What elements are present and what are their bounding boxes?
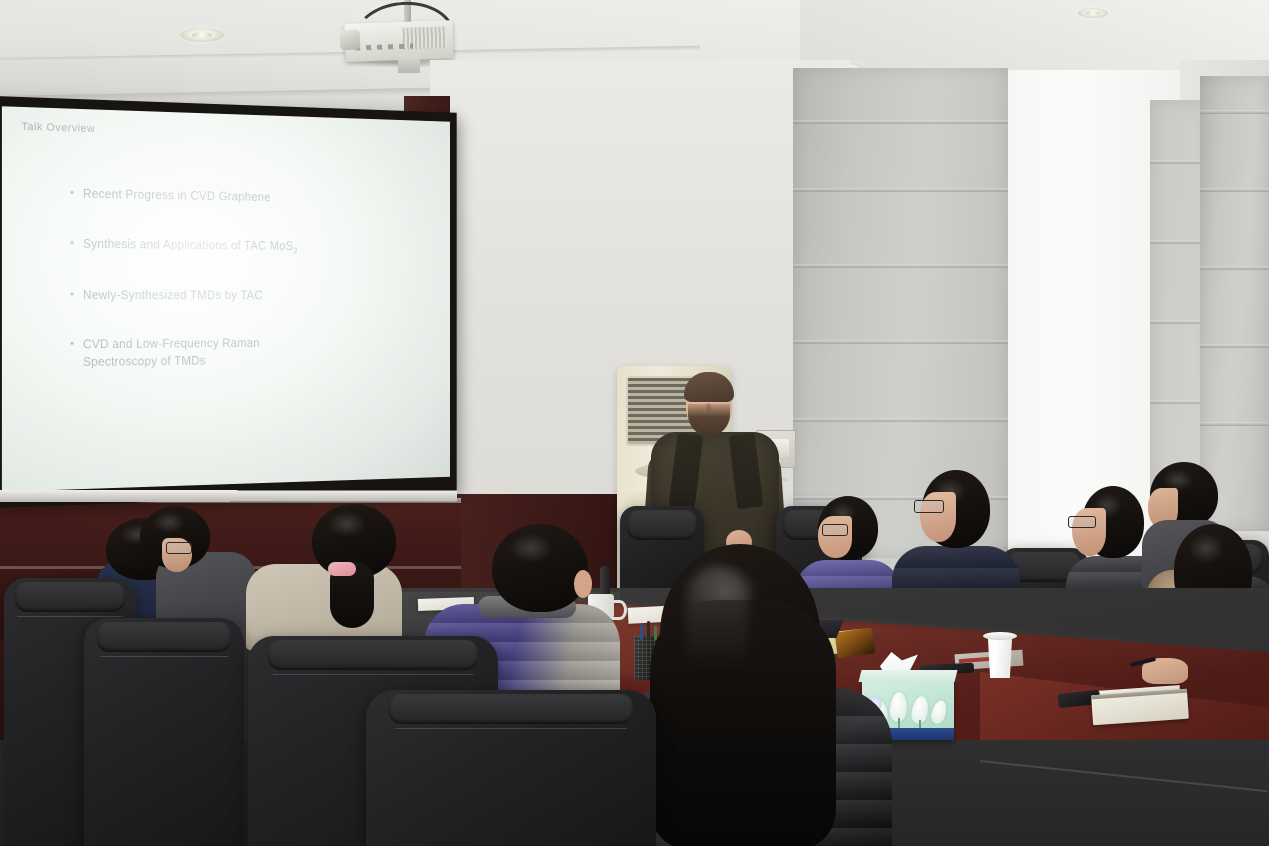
slide-bullet-item: • Recent Progress in CVD Graphene xyxy=(70,186,435,210)
pen-icon xyxy=(647,621,650,639)
projection-screen: Talk Overview • Recent Progress in CVD G… xyxy=(0,96,457,508)
chair-headrest xyxy=(15,582,126,612)
chair-headrest xyxy=(97,622,231,652)
snack-wrapper[interactable] xyxy=(834,627,875,658)
screen-surface: Talk Overview • Recent Progress in CVD G… xyxy=(2,106,450,491)
tissue-box-top-face xyxy=(859,670,958,682)
jacket-lapel-left xyxy=(669,433,704,510)
foreground-chair[interactable] xyxy=(84,618,244,846)
pen-icon xyxy=(640,624,643,640)
projector-lens-icon xyxy=(339,29,360,50)
conference-room-photo: Talk Overview • Recent Progress in CVD G… xyxy=(0,0,1269,846)
screen-bottom-bar xyxy=(0,490,457,502)
glasses-icon xyxy=(822,524,848,536)
roman-shade-right[interactable] xyxy=(1200,76,1269,531)
slide-bullet-item: • CVD and Low-Frequency Raman Spectrosco… xyxy=(70,336,292,372)
glasses-icon xyxy=(166,542,192,554)
slide-bullet-text: CVD and Low-Frequency Raman Spectroscopy… xyxy=(83,336,292,372)
chair-headrest xyxy=(627,510,698,540)
slide-bullet-text: Recent Progress in CVD Graphene xyxy=(83,186,271,207)
chair-headrest xyxy=(389,694,633,724)
projector-bracket xyxy=(398,55,420,73)
chair-stitch xyxy=(395,728,627,729)
chair-stitch xyxy=(100,656,228,657)
jacket-lapel-right xyxy=(729,433,764,510)
slide-bullet-text: Newly-Synthesized TMDs by TAC xyxy=(83,287,263,304)
chair-stitch xyxy=(273,674,473,675)
calla-lily-icon xyxy=(929,699,949,726)
slide-bullet-subscript: 2 xyxy=(293,246,297,255)
glasses-icon xyxy=(1068,516,1096,528)
pink-scrunchie xyxy=(328,562,356,576)
slide-bullet-item: • Synthesis and Applications of TAC MoS2 xyxy=(70,236,435,258)
mug-handle-icon xyxy=(612,600,627,620)
bullet-marker-icon: • xyxy=(70,337,74,352)
presentation-slide: Talk Overview • Recent Progress in CVD G… xyxy=(2,106,450,491)
person-purple-glasses-face xyxy=(818,516,852,558)
bullet-marker-icon: • xyxy=(70,287,74,302)
paper-cup-rim xyxy=(983,632,1017,640)
person-center-purple-head xyxy=(492,524,588,612)
person-foreground-black-hair-highlight xyxy=(686,566,748,716)
person-center-purple-ear xyxy=(574,570,592,598)
recessed-downlight-icon xyxy=(180,28,224,42)
chair-stitch xyxy=(17,616,123,617)
bullet-marker-icon: • xyxy=(70,236,74,251)
glasses-icon xyxy=(914,500,944,513)
chair-headrest xyxy=(268,640,478,670)
recessed-downlight-icon xyxy=(1078,8,1108,18)
slide-bullet-text: Synthesis and Applications of TAC MoS2 xyxy=(83,236,297,256)
foreground-chair[interactable] xyxy=(366,690,656,846)
slide-bullet-item: • Newly-Synthesized TMDs by TAC xyxy=(70,287,435,305)
slide-title: Talk Overview xyxy=(22,121,435,145)
slide-bullet-list: • Recent Progress in CVD Graphene • Synt… xyxy=(70,186,435,372)
bullet-marker-icon: • xyxy=(70,186,74,201)
